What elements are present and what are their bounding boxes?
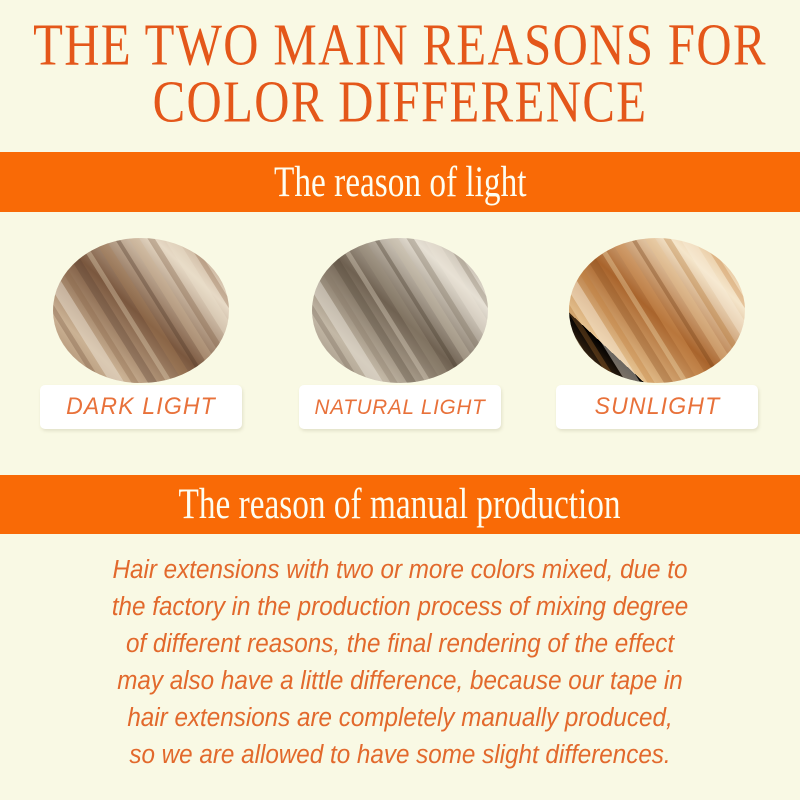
hair-swatch-icon bbox=[569, 238, 745, 383]
swatch-label-text: SUNLIGHT bbox=[594, 393, 720, 421]
hair-swatch-icon bbox=[53, 238, 229, 383]
section-heading-band-light: The reason of light bbox=[0, 152, 800, 212]
body-line: hair extensions are completely manually … bbox=[68, 700, 733, 737]
swatch-row: DARK LIGHT bbox=[0, 233, 800, 433]
hair-strands-graphic bbox=[312, 238, 488, 383]
hair-swatch-icon bbox=[312, 238, 488, 383]
swatch-sunlight[interactable]: SUNLIGHT bbox=[529, 233, 784, 433]
infographic-root: THE TWO MAIN REASONS FOR COLOR DIFFERENC… bbox=[0, 0, 800, 800]
hair-strands-graphic bbox=[53, 238, 229, 383]
body-line: of different reasons, the final renderin… bbox=[68, 626, 733, 663]
hair-strands-graphic bbox=[569, 238, 745, 383]
section-heading-light-text: The reason of light bbox=[274, 157, 526, 207]
body-line: so we are allowed to have some slight di… bbox=[68, 737, 733, 774]
swatch-label-text: DARK LIGHT bbox=[66, 393, 216, 421]
swatch-dark-light[interactable]: DARK LIGHT bbox=[13, 233, 268, 433]
swatch-natural-light[interactable]: NATURAL LIGHT bbox=[272, 233, 527, 433]
body-paragraph: Hair extensions with two or more colors … bbox=[68, 552, 733, 774]
body-line: Hair extensions with two or more colors … bbox=[68, 552, 733, 589]
section-heading-band-manual-production: The reason of manual production bbox=[0, 475, 800, 534]
page-title: THE TWO MAIN REASONS FOR COLOR DIFFERENC… bbox=[0, 14, 800, 128]
page-title-line-1: THE TWO MAIN REASONS FOR bbox=[32, 14, 768, 78]
swatch-label-card[interactable]: SUNLIGHT bbox=[556, 385, 758, 429]
body-line: may also have a little difference, becau… bbox=[68, 663, 733, 700]
swatch-label-card[interactable]: NATURAL LIGHT bbox=[299, 385, 501, 429]
page-title-line-2: COLOR DIFFERENCE bbox=[32, 71, 768, 135]
swatch-label-card[interactable]: DARK LIGHT bbox=[40, 385, 242, 429]
section-heading-manual-production-text: The reason of manual production bbox=[179, 480, 621, 530]
body-line: the factory in the production process of… bbox=[68, 589, 733, 626]
swatch-label-text: NATURAL LIGHT bbox=[315, 395, 486, 420]
